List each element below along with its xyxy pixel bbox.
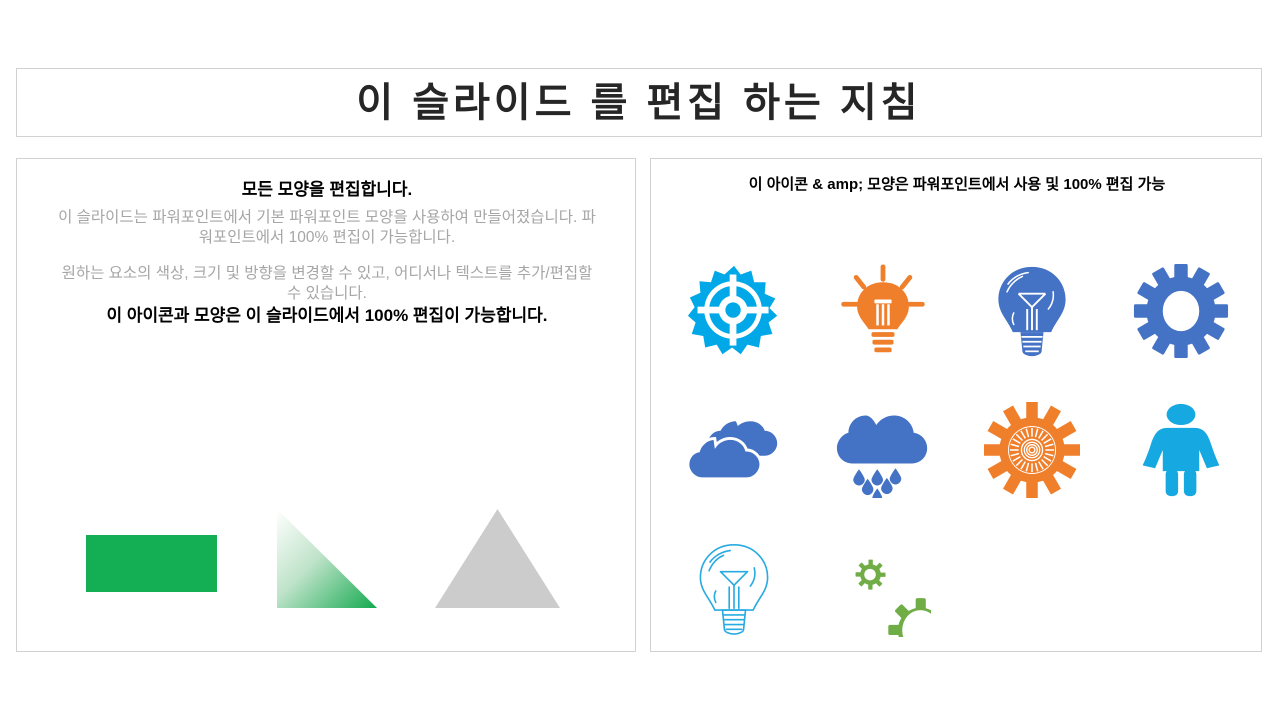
gear-detailed-icon[interactable] bbox=[982, 400, 1082, 500]
left-panel-paragraph-1: 이 슬라이드는 파워포인트에서 기본 파워포인트 모양을 사용하여 만들어졌습니… bbox=[55, 208, 599, 248]
gear-icon[interactable] bbox=[1131, 261, 1231, 361]
gray-triangle-shape[interactable] bbox=[435, 509, 560, 608]
left-content-panel: 모든 모양을 편집합니다. 이 슬라이드는 파워포인트에서 기본 파워포인트 모… bbox=[16, 158, 636, 652]
gears-pair-icon[interactable] bbox=[833, 539, 933, 639]
green-rectangle-shape[interactable] bbox=[86, 535, 217, 592]
icon-grid bbox=[659, 241, 1255, 658]
slide-title-box: 이 슬라이드 를 편집 하는 지침 bbox=[16, 68, 1262, 137]
shapes-row bbox=[17, 504, 635, 624]
clouds-icon[interactable] bbox=[684, 400, 784, 500]
gear-target-icon[interactable] bbox=[684, 261, 784, 361]
page-title: 이 슬라이드 를 편집 하는 지침 bbox=[356, 83, 921, 123]
right-panel-caption: 이 아이콘 & amp; 모양은 파워포인트에서 사용 및 100% 편집 가능 bbox=[651, 175, 1263, 195]
left-panel-heading: 모든 모양을 편집합니다. bbox=[55, 179, 599, 202]
gradient-right-triangle-shape[interactable] bbox=[277, 509, 377, 608]
left-panel-text-block: 모든 모양을 편집합니다. 이 슬라이드는 파워포인트에서 기본 파워포인트 모… bbox=[55, 179, 599, 327]
lightbulb-filled-icon[interactable] bbox=[982, 261, 1082, 361]
lightbulb-outline-icon[interactable] bbox=[684, 539, 784, 639]
right-icons-panel: 이 아이콘 & amp; 모양은 파워포인트에서 사용 및 100% 편집 가능 bbox=[650, 158, 1262, 652]
left-panel-paragraph-3: 이 아이콘과 모양은 이 슬라이드에서 100% 편집이 가능합니다. bbox=[55, 305, 599, 328]
rain-cloud-icon[interactable] bbox=[833, 400, 933, 500]
left-panel-paragraph-2: 원하는 요소의 색상, 크기 및 방향을 변경할 수 있고, 어디서나 텍스트를… bbox=[55, 264, 599, 304]
text-spacer bbox=[55, 248, 599, 264]
person-female-icon[interactable] bbox=[1131, 400, 1231, 500]
lightbulb-rays-icon[interactable] bbox=[833, 261, 933, 361]
